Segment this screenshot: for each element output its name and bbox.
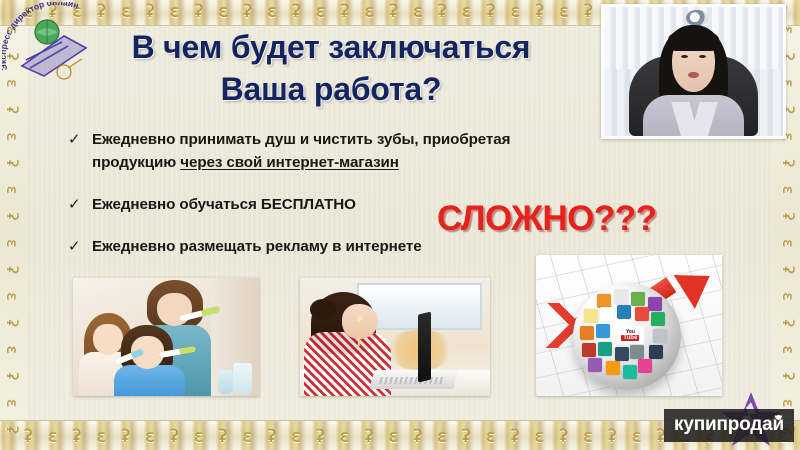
app-tile-12 [582, 343, 596, 357]
social-media-sphere-photo: You Tube [536, 255, 722, 396]
watermark-kupiprodai: купипродай [664, 409, 794, 442]
app-tile-8 [651, 312, 665, 326]
bullet-text-1: Ежедневно принимать душ и чистить зубы, … [92, 128, 588, 174]
youtube-tube-text: Tube [621, 335, 639, 341]
check-icon: ✓ [68, 193, 92, 216]
app-tile-5 [600, 307, 614, 321]
app-tile-15 [588, 358, 602, 372]
youtube-icon: You Tube [616, 326, 644, 344]
app-tile-7 [635, 307, 649, 321]
app-tile-2 [631, 292, 645, 306]
app-tile-16 [606, 361, 620, 375]
app-tile-6 [617, 305, 631, 319]
list-item: ✓ Ежедневно принимать душ и чистить зубы… [68, 128, 588, 174]
app-tile-14 [649, 345, 663, 359]
app-tile-4 [584, 309, 598, 323]
laptop-keyboard [379, 377, 446, 384]
watermark-dot [776, 415, 781, 420]
woman-at-laptop-photo [300, 278, 490, 396]
bathroom-cup-1 [233, 363, 252, 394]
bullet-text-3: Ежедневно размещать рекламу в интернете [92, 235, 422, 258]
app-tile-17 [623, 365, 637, 379]
check-icon: ✓ [68, 128, 92, 151]
girl-face [93, 324, 123, 355]
app-tile-19 [615, 347, 629, 361]
family-brushing-teeth-photo [73, 278, 259, 396]
watermark-text: купипродай [674, 414, 784, 435]
app-tile-9 [580, 326, 594, 340]
app-tile-3 [648, 297, 662, 311]
webcam-ceiling-lamp [686, 10, 707, 27]
laptop-screen [418, 312, 431, 384]
app-tile-13 [598, 342, 612, 356]
app-icon-sphere: You Tube [573, 283, 681, 390]
bullet-text-2: Ежедневно обучаться БЕСПЛАТНО [92, 193, 356, 216]
title-line-1: В чем будет заключаться [96, 26, 566, 68]
presentation-slide: ԑ ʡ ԑ ʡ ԑ ʡ ԑ ʡ ԑ ʡ ԑ ʡ ԑ ʡ ԑ ʡ ԑ ʡ ԑ ʡ … [0, 0, 800, 450]
webcam-mouth [688, 72, 699, 78]
bathroom-cup-2 [218, 370, 233, 394]
check-icon: ✓ [68, 235, 92, 258]
youtube-you-text: You [626, 330, 635, 335]
app-tile-18 [638, 359, 652, 373]
title-line-2: Ваша работа? [96, 68, 566, 110]
app-tile-1 [614, 290, 628, 304]
webcam-presenter-photo [601, 4, 786, 139]
page-title: В чем будет заключаться Ваша работа? [96, 26, 566, 110]
app-tile-10 [596, 324, 610, 338]
bullet-1-underlined: через свой интернет-магазин [180, 154, 399, 171]
boy-body [114, 365, 185, 396]
app-tile-0 [597, 294, 611, 308]
webcam-fringe [668, 29, 720, 51]
app-tile-11 [653, 329, 667, 343]
app-tile-20 [630, 345, 644, 359]
callout-slozhno: СЛОЖНО??? [437, 199, 657, 239]
